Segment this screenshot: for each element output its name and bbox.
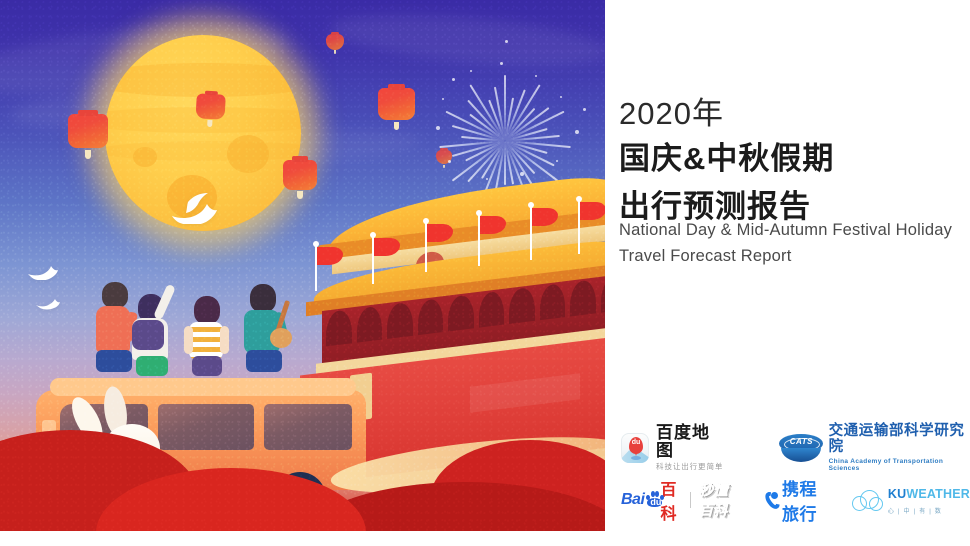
baidu-maps-wordmark: 百度地图 科技让出行更简单 (656, 424, 723, 473)
logo-divider (690, 492, 691, 508)
star-dot (560, 96, 562, 98)
miaodong-baike-logo[interactable]: 秒懂百科 (699, 480, 733, 520)
star-dot (442, 98, 444, 100)
baidu-maps-title: 百度地图 (656, 424, 723, 460)
star-dot (556, 160, 558, 162)
cats-subtitle: China Academy of Transportation Sciences (829, 458, 970, 472)
kuweather-logo[interactable]: KUWEATHER 心 | 中 | 有 | 数 (852, 485, 970, 515)
cats-wordmark: 交通运输部科学研究院 China Academy of Transportati… (829, 424, 970, 473)
baidu-maps-app-icon: du (621, 433, 649, 463)
baike-latin: Bai (621, 491, 644, 509)
cats-logo[interactable]: CATS 交通运输部科学研究院 China Academy of Transpo… (779, 424, 970, 473)
subtitle-line-2: Travel Forecast Report (619, 247, 792, 266)
star-dot (520, 172, 524, 176)
baidu-maps-tagline: 科技让出行更简单 (656, 461, 723, 472)
cats-title: 交通运输部科学研究院 (829, 424, 970, 456)
title-line-2: 出行预测报告 (619, 181, 811, 226)
ctrip-title: 携程旅行 (782, 475, 822, 525)
baidu-maps-logo[interactable]: du 百度地图 科技让出行更简单 (621, 424, 723, 473)
paw-label: du (650, 497, 661, 507)
star-dot (470, 70, 472, 72)
ctrip-logo[interactable]: 携程旅行 (767, 475, 822, 525)
cats-abbr: CATS (779, 437, 823, 446)
star-dot (486, 178, 488, 180)
star-dot (535, 75, 537, 77)
kuweather-brand-ku: KU (888, 487, 906, 501)
logo-area: du 百度地图 科技让出行更简单 CATS 交通运输部科学研究院 (613, 424, 970, 528)
illustration-panel (0, 0, 605, 531)
kuweather-wordmark: KUWEATHER 心 | 中 | 有 | 数 (888, 485, 970, 515)
cats-emblem-icon: CATS (779, 433, 820, 463)
texture-overlay (0, 0, 605, 531)
baidu-baike-logo[interactable]: Bai du 百科 (621, 476, 682, 524)
baidu-paw-icon: du (645, 491, 658, 507)
star-dot (505, 40, 508, 43)
ctrip-mark-icon (767, 491, 778, 510)
title-line-1: 国庆&中秋假期 (619, 133, 834, 178)
star-dot (452, 78, 455, 81)
kuweather-subtitle: 心 | 中 | 有 | 数 (888, 506, 970, 515)
subtitle-line-1: National Day & Mid-Autumn Festival Holid… (619, 221, 952, 240)
kuweather-brand-weather: WEATHER (906, 487, 970, 501)
map-pin-label: du (630, 438, 642, 448)
cloud-icon (852, 489, 882, 511)
baike-chinese: 百科 (660, 476, 682, 524)
star-dot (448, 160, 451, 163)
title-year: 2020年 (619, 88, 724, 133)
star-dot (500, 62, 503, 65)
star-dot (583, 108, 586, 111)
poster-slide: 2020年 国庆&中秋假期 出行预测报告 National Day & Mid-… (0, 0, 970, 546)
star-dot (575, 130, 579, 134)
logo-row-primary: du 百度地图 科技让出行更简单 CATS 交通运输部科学研究院 (613, 424, 970, 472)
logo-row-secondary: Bai du 百科 秒懂百科 携程旅行 (613, 480, 970, 520)
star-dot (436, 126, 440, 130)
text-panel: 2020年 国庆&中秋假期 出行预测报告 National Day & Mid-… (605, 0, 970, 546)
